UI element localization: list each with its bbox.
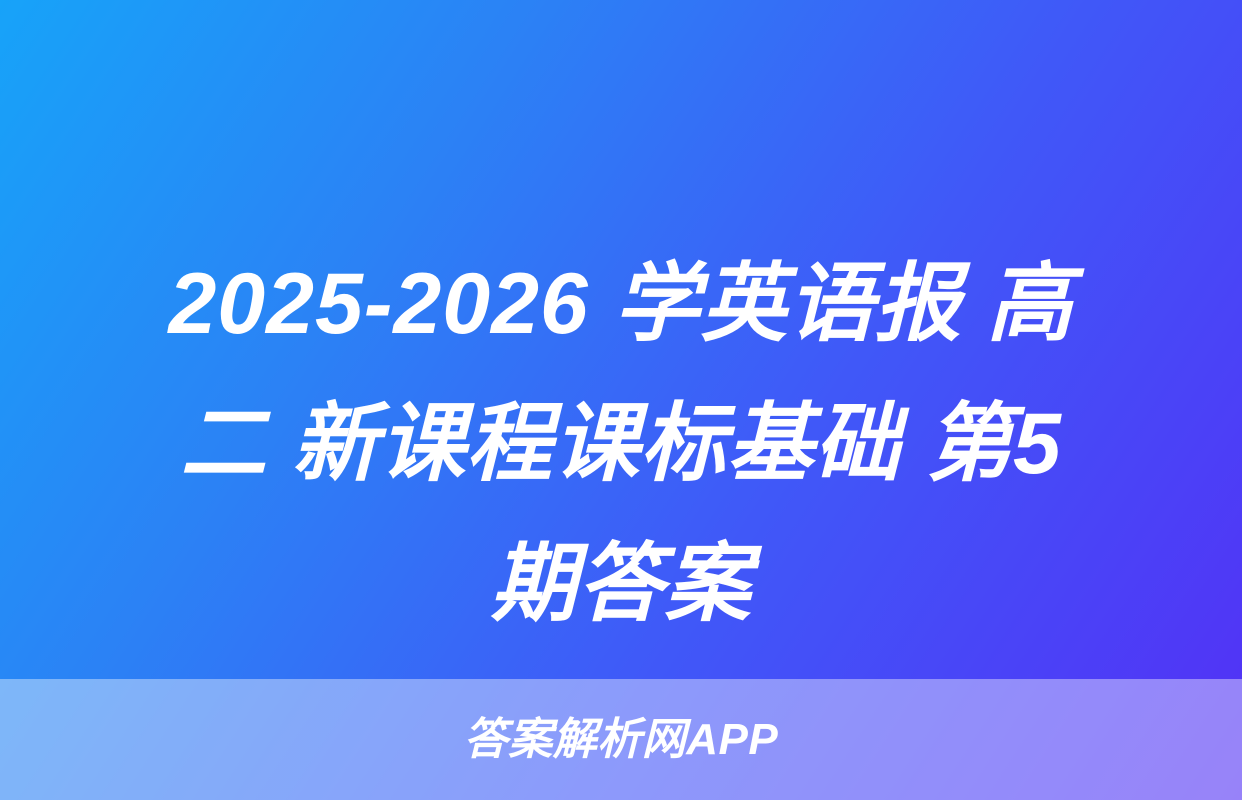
- brand-watermark-label: 答案解析网APP: [464, 718, 778, 762]
- footer-brand-band: 答案解析网APP: [0, 679, 1242, 800]
- cover-title-line-3: 期答案: [491, 536, 752, 632]
- cover-title-line-2: 二 新课程课标基础 第5: [180, 396, 1062, 492]
- cover-title-line-1: 2025-2026 学英语报 高: [168, 256, 1073, 352]
- cover-title: 2025-2026 学英语报 高 二 新课程课标基础 第5 期答案: [0, 234, 1242, 654]
- cover-card: 2025-2026 学英语报 高 二 新课程课标基础 第5 期答案 答案解析网A…: [0, 0, 1242, 800]
